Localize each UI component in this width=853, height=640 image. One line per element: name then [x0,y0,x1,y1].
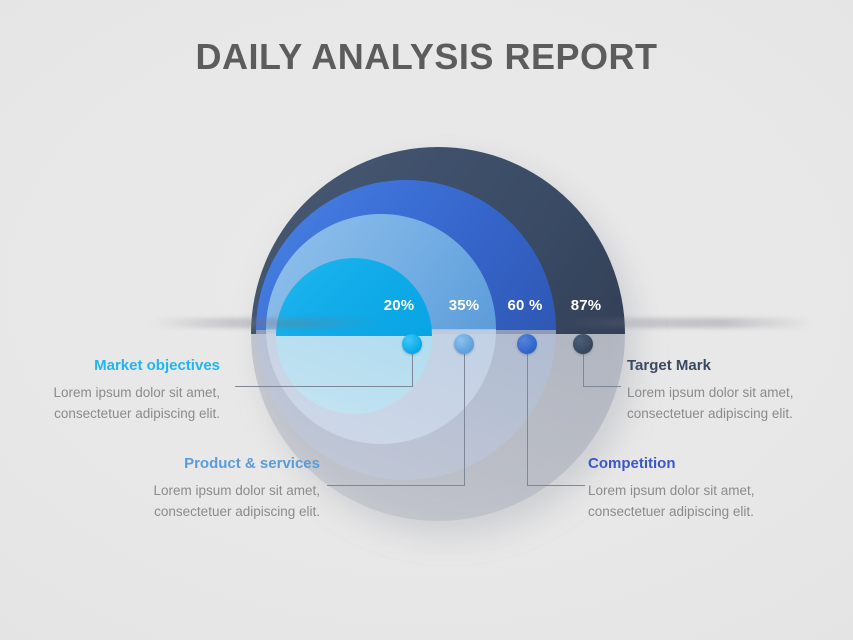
connector-vertical-market-objectives [412,352,413,386]
callout-body-line2: consectetuer adipiscing elit. [627,406,793,421]
connector-horizontal-target-mark [583,386,621,387]
connector-horizontal-product-services [327,485,465,486]
callout-title-product-services: Product & services [85,455,320,472]
connector-vertical-competition [527,352,528,485]
callout-body-competition: Lorem ipsum dolor sit amet, consectetuer… [588,481,828,523]
callout-body-line1: Lorem ipsum dolor sit amet, [627,385,794,400]
callout-title-target-mark: Target Mark [627,357,853,374]
value-label-product-services: 35% [437,297,491,314]
connector-vertical-product-services [464,352,465,485]
marker-dot-product-services[interactable] [454,334,474,354]
marker-dot-market-objectives[interactable] [402,334,422,354]
callout-body-target-mark: Lorem ipsum dolor sit amet, consectetuer… [627,383,853,425]
callout-target-mark[interactable]: Target Mark Lorem ipsum dolor sit amet, … [627,357,853,425]
concentric-circle-chart: 20% 35% 60 % 87% [0,0,853,640]
callout-product-services[interactable]: Product & services Lorem ipsum dolor sit… [85,455,320,523]
value-label-competition: 60 % [497,297,553,314]
callout-competition[interactable]: Competition Lorem ipsum dolor sit amet, … [588,455,828,523]
callout-body-line1: Lorem ipsum dolor sit amet, [53,385,220,400]
connector-vertical-target-mark [583,352,584,386]
callout-body-line2: consectetuer adipiscing elit. [54,406,220,421]
slide-canvas: DAILY ANALYSIS REPORT 20% 35% 6 [0,0,853,640]
baseline-left [150,318,380,328]
value-label-market-objectives: 20% [372,297,426,314]
callout-title-competition: Competition [588,455,828,472]
callout-market-objectives[interactable]: Market objectives Lorem ipsum dolor sit … [0,357,220,425]
callout-body-line2: consectetuer adipiscing elit. [588,504,754,519]
callout-body-product-services: Lorem ipsum dolor sit amet, consectetuer… [85,481,320,523]
callout-title-market-objectives: Market objectives [0,357,220,374]
value-label-target-mark: 87% [558,297,614,314]
connector-horizontal-competition [527,485,585,486]
connector-horizontal-market-objectives [235,386,413,387]
marker-dot-competition[interactable] [517,334,537,354]
callout-body-market-objectives: Lorem ipsum dolor sit amet, consectetuer… [0,383,220,425]
marker-dot-target-mark[interactable] [573,334,593,354]
callout-body-line1: Lorem ipsum dolor sit amet, [153,483,320,498]
callout-body-line1: Lorem ipsum dolor sit amet, [588,483,755,498]
baseline-right [560,318,810,328]
callout-body-line2: consectetuer adipiscing elit. [154,504,320,519]
